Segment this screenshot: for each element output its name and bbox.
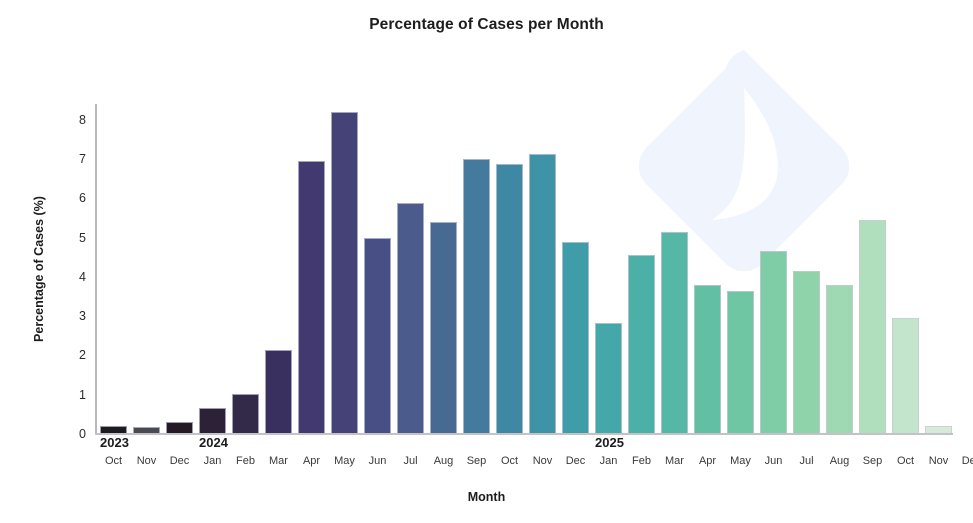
x-tick-label: Nov bbox=[929, 455, 949, 467]
bar[interactable] bbox=[595, 323, 621, 433]
bar[interactable] bbox=[397, 203, 423, 433]
x-tick-label: Feb bbox=[236, 455, 255, 467]
x-tick-label: Dec bbox=[962, 455, 973, 467]
bar[interactable] bbox=[859, 220, 885, 433]
x-axis-year-label: 2024 bbox=[199, 435, 228, 450]
bar[interactable] bbox=[529, 154, 555, 433]
x-axis-title: Month bbox=[0, 490, 973, 504]
x-axis-year-labels: 202320242025 bbox=[95, 435, 953, 455]
bar[interactable] bbox=[232, 394, 258, 433]
bar[interactable] bbox=[496, 164, 522, 433]
x-tick-label: Dec bbox=[170, 455, 190, 467]
y-axis-line bbox=[95, 104, 97, 434]
y-tick-label: 7 bbox=[79, 152, 86, 166]
bar[interactable] bbox=[430, 222, 456, 433]
y-tick-label: 8 bbox=[79, 113, 86, 127]
chart-title: Percentage of Cases per Month bbox=[0, 16, 973, 34]
x-tick-label: Dec bbox=[566, 455, 586, 467]
x-tick-label: Apr bbox=[699, 455, 716, 467]
bar[interactable] bbox=[628, 255, 654, 433]
y-tick-label: 2 bbox=[79, 348, 86, 362]
x-tick-label: Jun bbox=[765, 455, 783, 467]
bar[interactable] bbox=[694, 285, 720, 433]
y-tick-label: 5 bbox=[79, 231, 86, 245]
x-tick-label: Sep bbox=[467, 455, 487, 467]
bar[interactable] bbox=[793, 271, 819, 433]
x-tick-label: Jul bbox=[403, 455, 417, 467]
bar[interactable] bbox=[199, 408, 225, 433]
bar[interactable] bbox=[100, 426, 126, 433]
bar[interactable] bbox=[727, 291, 753, 433]
x-tick-label: Aug bbox=[434, 455, 454, 467]
x-tick-label: Jun bbox=[369, 455, 387, 467]
bar[interactable] bbox=[925, 426, 951, 433]
y-tick-label: 0 bbox=[79, 427, 86, 441]
bar[interactable] bbox=[826, 285, 852, 433]
bar[interactable] bbox=[463, 159, 489, 433]
x-tick-label: Jan bbox=[600, 455, 618, 467]
bar[interactable] bbox=[265, 350, 291, 433]
x-tick-label: Jan bbox=[204, 455, 222, 467]
x-tick-label: Mar bbox=[665, 455, 684, 467]
bar[interactable] bbox=[892, 318, 918, 433]
y-axis-title: Percentage of Cases (%) bbox=[30, 104, 48, 434]
bar[interactable] bbox=[661, 232, 687, 433]
x-axis-month-labels: OctNovDecJanFebMarAprMayJunJulAugSepOctN… bbox=[95, 455, 953, 475]
x-tick-label: Jul bbox=[799, 455, 813, 467]
x-tick-label: Aug bbox=[830, 455, 850, 467]
x-tick-label: Nov bbox=[137, 455, 157, 467]
bar[interactable] bbox=[133, 427, 159, 433]
x-tick-label: Mar bbox=[269, 455, 288, 467]
y-tick-label: 1 bbox=[79, 388, 86, 402]
x-tick-label: May bbox=[730, 455, 751, 467]
y-tick-label: 3 bbox=[79, 309, 86, 323]
bar[interactable] bbox=[331, 112, 357, 433]
x-axis-year-label: 2025 bbox=[595, 435, 624, 450]
x-tick-label: Apr bbox=[303, 455, 320, 467]
y-tick-label: 4 bbox=[79, 270, 86, 284]
bar[interactable] bbox=[364, 238, 390, 433]
plot-area: 012345678 bbox=[95, 104, 953, 434]
x-tick-label: May bbox=[334, 455, 355, 467]
x-tick-label: Sep bbox=[863, 455, 883, 467]
chart-container: Percentage of Cases per Month Percentage… bbox=[0, 0, 973, 523]
x-tick-label: Oct bbox=[897, 455, 914, 467]
bar[interactable] bbox=[562, 242, 588, 433]
bar[interactable] bbox=[166, 422, 192, 433]
y-tick-label: 6 bbox=[79, 191, 86, 205]
x-tick-label: Feb bbox=[632, 455, 651, 467]
x-tick-label: Nov bbox=[533, 455, 553, 467]
bar[interactable] bbox=[760, 251, 786, 433]
x-axis-year-label: 2023 bbox=[100, 435, 129, 450]
bar[interactable] bbox=[298, 161, 324, 433]
x-tick-label: Oct bbox=[501, 455, 518, 467]
x-tick-label: Oct bbox=[105, 455, 122, 467]
